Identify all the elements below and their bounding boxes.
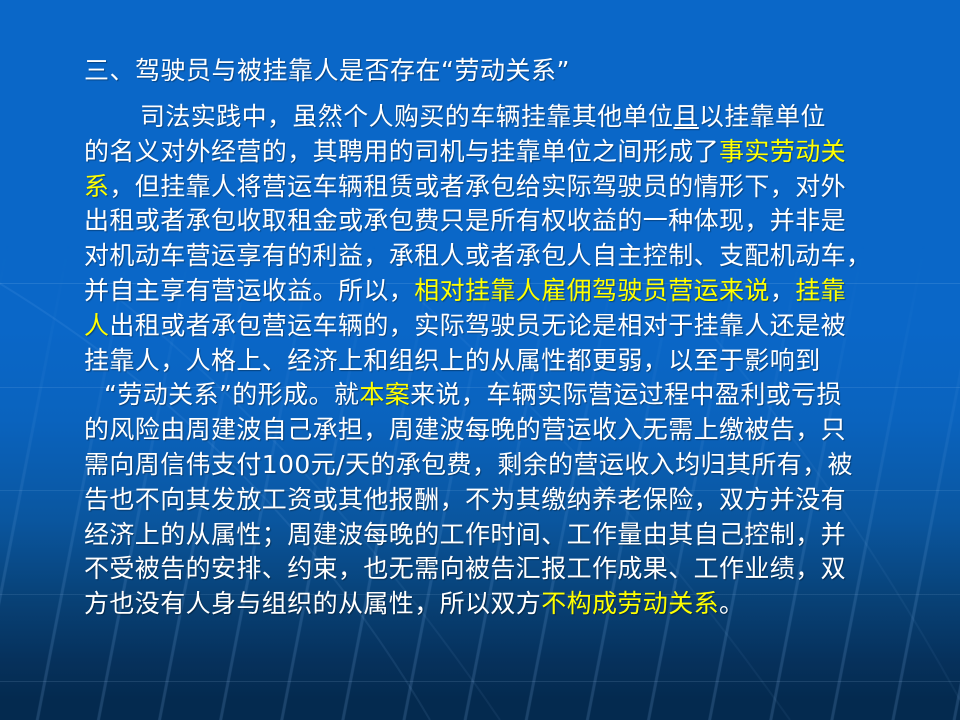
- paragraph-line: 告也不向其发放工资或其他报酬，不为其缴纳养老保险，双方并没有: [84, 483, 884, 518]
- paragraph-line: 出租或者承包收取租金或承包费只是所有权收益的一种体现，并非是: [84, 204, 884, 239]
- text-run: 的风险由周建波自己承担，周建波每晚的营运收入无需上缴被告，只: [84, 415, 846, 444]
- text-run: 方也没有人身与组织的从属性，所以双方: [84, 589, 541, 618]
- highlighted-text: 不构成劳动关系: [541, 589, 719, 618]
- text-run: 出租或者承包营运车辆的，实际驾驶员无论是相对于挂靠人还是被: [109, 311, 846, 340]
- text-run: ，: [770, 276, 795, 305]
- paragraph-line: 并自主享有营运收益。所以，相对挂靠人雇佣驾驶员营运来说，挂靠: [84, 274, 884, 309]
- text-run: “劳动关系”的形成。就: [104, 380, 359, 409]
- slide-title: 三、驾驶员与被挂靠人是否存在“劳动关系”: [84, 54, 914, 88]
- highlighted-text: 系: [84, 172, 109, 201]
- text-run: 司法实践中，虽然个人购买的车辆挂靠其他单位: [140, 102, 673, 131]
- paragraph-line: “劳动关系”的形成。就本案来说，车辆实际营运过程中盈利或亏损: [84, 378, 884, 413]
- text-run: 经济上的从属性；周建波每晚的工作时间、工作量由其自己控制，并: [84, 520, 846, 549]
- paragraph-line: 人出租或者承包营运车辆的，实际驾驶员无论是相对于挂靠人还是被: [84, 309, 884, 344]
- paragraph-line: 系，但挂靠人将营运车辆租赁或者承包给实际驾驶员的情形下，对外: [84, 170, 884, 205]
- text-run: 对机动车营运享有的利益，承租人或者承包人自主控制、支配机动车，: [84, 241, 871, 270]
- underlined-text: 且: [673, 102, 698, 131]
- paragraph-line: 不受被告的安排、约束，也无需向被告汇报工作成果、工作业绩，双: [84, 552, 884, 587]
- paragraph-line: 对机动车营运享有的利益，承租人或者承包人自主控制、支配机动车，: [84, 239, 884, 274]
- highlighted-text: 相对挂靠人雇佣驾驶员营运来说: [414, 276, 770, 305]
- text-run: 挂靠人，人格上、经济上和组织上的从属性都更弱，以至于影响到: [84, 346, 821, 375]
- text-run: 以挂靠单位: [699, 102, 826, 131]
- highlighted-text: 事实劳动关: [719, 137, 846, 166]
- paragraph-line: 方也没有人身与组织的从属性，所以双方不构成劳动关系。: [84, 587, 884, 622]
- text-run: 告也不向其发放工资或其他报酬，不为其缴纳养老保险，双方并没有: [84, 485, 846, 514]
- text-run: 不受被告的安排、约束，也无需向被告汇报工作成果、工作业绩，双: [84, 554, 846, 583]
- text-run: 需向周信伟支付100元/天的承包费，剩余的营运收入均归其所有，被: [84, 450, 853, 479]
- presentation-slide: 三、驾驶员与被挂靠人是否存在“劳动关系” 司法实践中，虽然个人购买的车辆挂靠其他…: [0, 0, 960, 720]
- text-run: 并自主享有营运收益。所以，: [84, 276, 414, 305]
- paragraph-line: 的名义对外经营的，其聘用的司机与挂靠单位之间形成了事实劳动关: [84, 135, 884, 170]
- paragraph-line: 司法实践中，虽然个人购买的车辆挂靠其他单位且以挂靠单位: [84, 100, 884, 135]
- text-run: 的名义对外经营的，其聘用的司机与挂靠单位之间形成了: [84, 137, 719, 166]
- text-run: ，但挂靠人将营运车辆租赁或者承包给实际驾驶员的情形下，对外: [109, 172, 846, 201]
- highlighted-text: 挂靠: [795, 276, 846, 305]
- text-run: 来说，车辆实际营运过程中盈利或亏损: [410, 380, 842, 409]
- paragraph-line: 经济上的从属性；周建波每晚的工作时间、工作量由其自己控制，并: [84, 518, 884, 553]
- highlighted-text: 人: [84, 311, 109, 340]
- text-run: 出租或者承包收取租金或承包费只是所有权收益的一种体现，并非是: [84, 206, 846, 235]
- text-run: 。: [719, 589, 744, 618]
- highlighted-text: 本案: [359, 380, 410, 409]
- paragraph-line: 需向周信伟支付100元/天的承包费，剩余的营运收入均归其所有，被: [84, 448, 884, 483]
- paragraph-line: 挂靠人，人格上、经济上和组织上的从属性都更弱，以至于影响到: [84, 344, 884, 379]
- paragraph-line: 的风险由周建波自己承担，周建波每晚的营运收入无需上缴被告，只: [84, 413, 884, 448]
- slide-body-text: 司法实践中，虽然个人购买的车辆挂靠其他单位且以挂靠单位的名义对外经营的，其聘用的…: [84, 100, 884, 622]
